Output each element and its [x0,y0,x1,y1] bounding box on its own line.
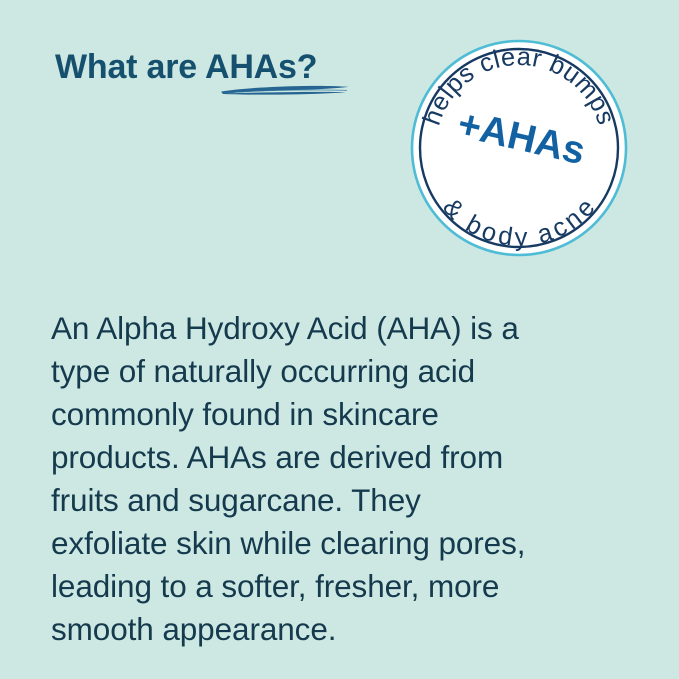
body-paragraph: An Alpha Hydroxy Acid (AHA) is a type of… [51,307,611,651]
body-line: commonly found in skincare [51,393,611,436]
body-line: type of naturally occurring acid [51,350,611,393]
body-line: leading to a softer, fresher, more [51,565,611,608]
aha-seal-badge: helps clear bumps & body acne +AHAs [408,37,630,259]
infographic-card: What are AHAs? helps clear bumps & body … [0,0,679,679]
body-paragraph-block: An Alpha Hydroxy Acid (AHA) is a type of… [51,307,611,651]
body-line: exfoliate skin while clearing pores, [51,522,611,565]
body-line: fruits and sugarcane. They [51,479,611,522]
body-line: products. AHAs are derived from [51,436,611,479]
body-line: An Alpha Hydroxy Acid (AHA) is a [51,307,611,350]
page-title: What are AHAs? [55,47,415,87]
heading-block: What are AHAs? [55,47,415,107]
body-line: smooth appearance. [51,608,611,651]
